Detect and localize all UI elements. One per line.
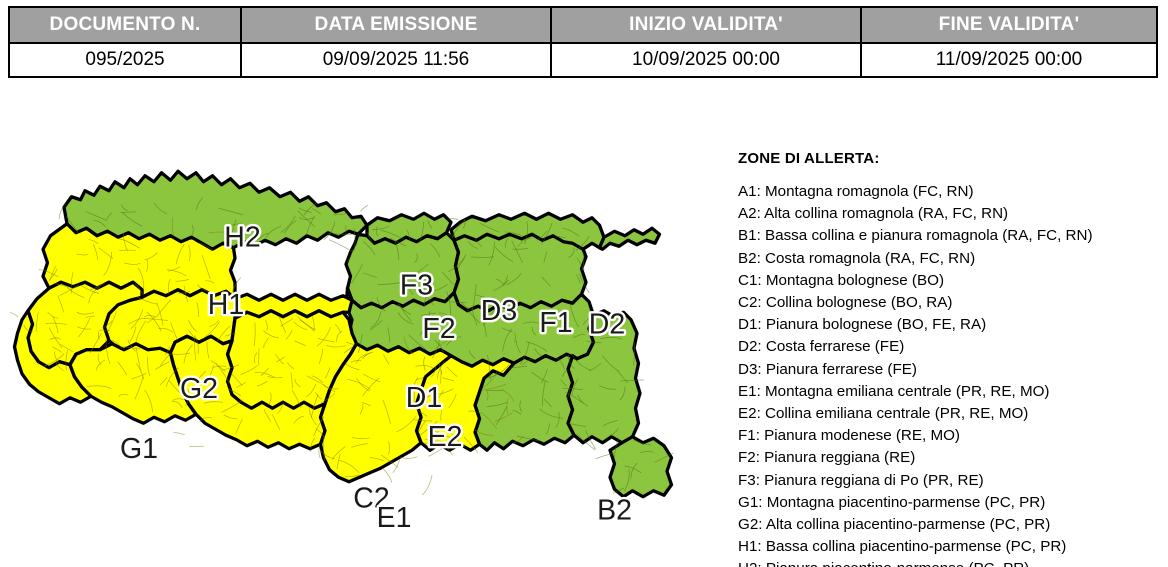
municipality-boundary-line xyxy=(174,432,185,434)
value-data-emissione: 09/09/2025 11:56 xyxy=(241,43,551,77)
legend-item: H1: Bassa collina piacentino-parmense (P… xyxy=(738,536,1158,558)
zone-label-d2: D2 xyxy=(589,308,625,340)
legend-item: B2: Costa romagnola (RA, FC, RN) xyxy=(738,248,1158,270)
legend-item: D2: Costa ferrarese (FE) xyxy=(738,336,1158,358)
value-documento-n: 095/2025 xyxy=(9,43,241,77)
legend-item: C2: Collina bolognese (BO, RA) xyxy=(738,292,1158,314)
zone-label-h1: H1 xyxy=(208,289,244,321)
legend-item: A1: Montagna romagnola (FC, RN) xyxy=(738,181,1158,203)
legend-item: D3: Pianura ferrarese (FE) xyxy=(738,359,1158,381)
alert-bulletin-page: DOCUMENTO N. DATA EMISSIONE INIZIO VALID… xyxy=(0,0,1168,567)
zone-area-d2[interactable] xyxy=(600,228,660,249)
header-data-emissione: DATA EMISSIONE xyxy=(241,7,551,43)
value-fine-validita: 11/09/2025 00:00 xyxy=(861,43,1157,77)
legend-item: F2: Pianura reggiana (RE) xyxy=(738,447,1158,469)
document-info-table: DOCUMENTO N. DATA EMISSIONE INIZIO VALID… xyxy=(8,6,1158,78)
legend-list: A1: Montagna romagnola (FC, RN)A2: Alta … xyxy=(738,181,1158,567)
legend-item: G1: Montagna piacentino-parmense (PC, PR… xyxy=(738,492,1158,514)
map-svg: A1A2B1B2C1C2D1D2D3E1E2F1F2F3G1G2H1H2 xyxy=(10,150,730,560)
legend-item: F3: Pianura reggiana di Po (PR, RE) xyxy=(738,470,1158,492)
zone-label-g2: G2 xyxy=(180,373,218,405)
legend-item: D1: Pianura bolognese (BO, FE, RA) xyxy=(738,314,1158,336)
legend-item: A2: Alta collina romagnola (RA, FC, RN) xyxy=(738,203,1158,225)
zone-label-d3: D3 xyxy=(481,295,517,327)
header-fine-validita: FINE VALIDITA' xyxy=(861,7,1157,43)
zone-label-d1: D1 xyxy=(406,382,442,414)
header-documento-n: DOCUMENTO N. xyxy=(9,7,241,43)
zone-label-e2: E2 xyxy=(428,421,463,453)
municipality-boundary-line xyxy=(329,240,352,252)
zone-label-f2: F2 xyxy=(422,313,455,345)
table-header-row: DOCUMENTO N. DATA EMISSIONE INIZIO VALID… xyxy=(9,7,1157,43)
value-inizio-validita: 10/09/2025 00:00 xyxy=(551,43,861,77)
legend-item: G2: Alta collina piacentino-parmense (PC… xyxy=(738,514,1158,536)
zone-label-f3: F3 xyxy=(400,269,433,301)
legend-item: H2: Pianura piacentino-parmense (PC, PR) xyxy=(738,558,1158,567)
zone-label-e1: E1 xyxy=(377,502,412,534)
legend-item: C1: Montagna bolognese (BO) xyxy=(738,270,1158,292)
municipality-boundary-line xyxy=(361,205,368,211)
zone-label-f1: F1 xyxy=(539,307,572,339)
header-inizio-validita: INIZIO VALIDITA' xyxy=(551,7,861,43)
alert-zones-map: A1A2B1B2C1C2D1D2D3E1E2F1F2F3G1G2H1H2 xyxy=(10,150,730,560)
table-value-row: 095/2025 09/09/2025 11:56 10/09/2025 00:… xyxy=(9,43,1157,77)
zone-label-g1: G1 xyxy=(120,433,158,465)
zone-area-f1[interactable] xyxy=(454,234,586,311)
municipality-boundary-line xyxy=(382,468,391,483)
legend-item: B1: Bassa collina e pianura romagnola (R… xyxy=(738,225,1158,247)
legend-title: ZONE DI ALLERTA: xyxy=(738,150,1158,167)
legend-panel: ZONE DI ALLERTA: A1: Montagna romagnola … xyxy=(738,150,1158,567)
legend-item: E2: Collina emiliana centrale (PR, RE, M… xyxy=(738,403,1158,425)
municipality-boundary-line xyxy=(423,475,433,495)
zone-label-h2: H2 xyxy=(224,221,260,253)
legend-item: F1: Pianura modenese (RE, MO) xyxy=(738,425,1158,447)
zone-area-b1[interactable] xyxy=(610,437,672,497)
legend-item: E1: Montagna emiliana centrale (PR, RE, … xyxy=(738,381,1158,403)
zone-label-b2: B2 xyxy=(597,494,632,526)
municipality-boundary-line xyxy=(10,312,18,317)
